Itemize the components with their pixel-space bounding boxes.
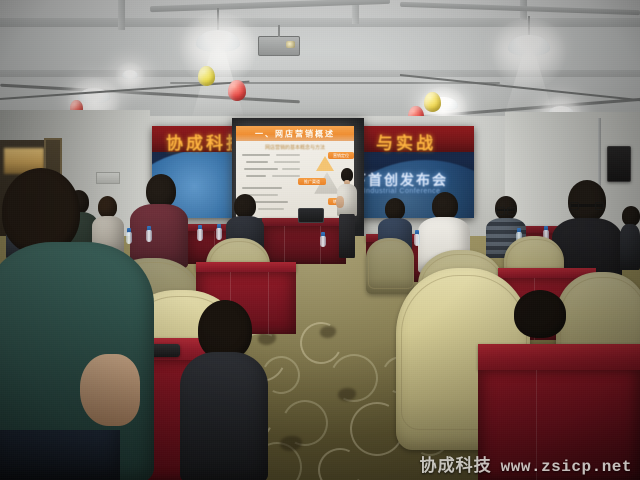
backdrop-title-right: 与实战 [376, 129, 436, 154]
ceiling-projector [258, 36, 300, 56]
water-bottle [197, 225, 203, 241]
water-bottle [320, 232, 326, 247]
balloon-red-1 [228, 80, 246, 101]
wall-mounted-speaker [607, 146, 631, 182]
slide-bullet-line [246, 161, 268, 163]
slide-bullet-line [242, 187, 282, 189]
slide-header-band: 一、网店营销概述 [236, 126, 354, 141]
glasses-icon [496, 209, 516, 211]
attendee-far-right-edge [620, 206, 640, 266]
slide-subtitle: 网店营销的基本概念与方法 [236, 144, 354, 151]
presenter-trousers [339, 214, 355, 258]
slide-bullet-line [246, 175, 266, 177]
slide-pill-1: 营销定位 [328, 152, 354, 159]
glasses-icon [570, 204, 604, 207]
slide-bullet-line [272, 175, 300, 177]
attendee-head [622, 206, 640, 226]
attendee-foreground-right [500, 290, 584, 360]
conference-room-photo: 协成科技 与实战 下首创发布会 IT Industrial Conference… [0, 0, 640, 480]
projector-lens [286, 41, 295, 48]
presenter [334, 168, 360, 262]
slide-bullet-line [242, 154, 270, 156]
water-bottle [414, 230, 420, 246]
attendee-head [234, 194, 256, 218]
carpet-motif [280, 436, 302, 451]
slide-bullet-line [274, 161, 300, 163]
attendee-head [385, 198, 405, 220]
ceiling-beam-vertical-1 [118, 0, 125, 30]
slide-pill-2: 推广渠道 [298, 178, 326, 185]
attendee-shirt [180, 352, 268, 480]
projector-mount [278, 25, 280, 37]
attendee-head [568, 180, 606, 222]
balloon-yellow-2 [424, 92, 441, 112]
attendee-head [198, 300, 252, 360]
slide-bullet-line [282, 168, 300, 170]
presenter-hand [336, 196, 344, 208]
attendee-head [432, 192, 458, 220]
slide-bullet-line [276, 154, 300, 156]
attendee-trousers [0, 430, 120, 480]
backdrop-subtitle: 下首创发布会 [352, 170, 448, 190]
slide-header-text: 一、网店营销概述 [236, 128, 354, 139]
attendee-shirt [620, 224, 640, 270]
attendee-foreground-center [180, 300, 268, 480]
attendee-bottom-edge [0, 430, 120, 480]
attendee-arm [80, 354, 140, 426]
track-lamp-1 [196, 8, 240, 58]
attendee-head [514, 290, 566, 338]
slide-bullet-line [244, 168, 278, 170]
balloon-yellow-1 [198, 66, 215, 86]
foreground-table-right [478, 344, 640, 480]
track-lamp-6 [122, 66, 138, 82]
presenter-laptop [298, 208, 324, 223]
track-lamp-2 [508, 16, 550, 64]
